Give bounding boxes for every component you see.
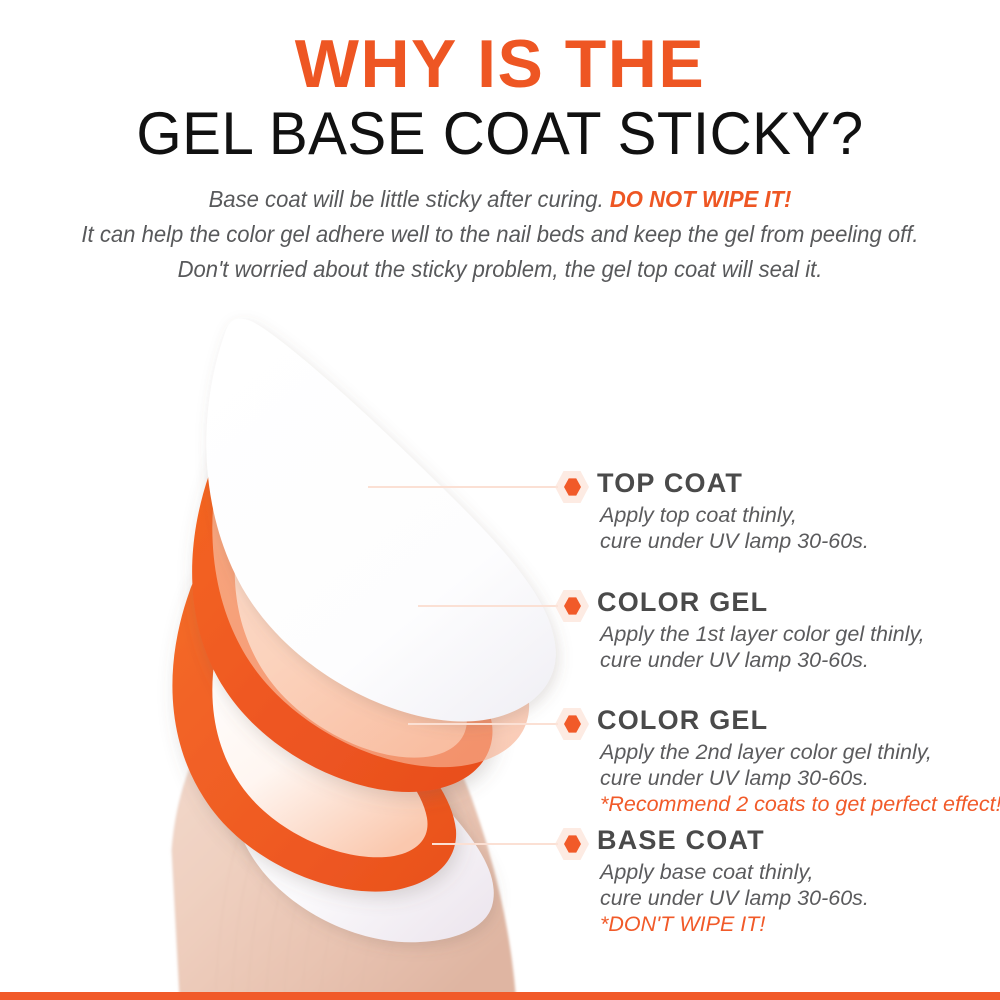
leader-line-base-coat	[432, 843, 558, 845]
callout-body-line-1: Apply base coat thinly,	[600, 859, 869, 885]
callout-note: *DON'T WIPE IT!	[600, 911, 869, 937]
callout-heading: COLOR GEL	[597, 705, 768, 736]
subtitle-line-1-text: Base coat will be little sticky after cu…	[209, 186, 610, 212]
callout-note: *Recommend 2 coats to get perfect effect…	[600, 791, 1000, 817]
hexagon-bullet-icon	[555, 827, 589, 861]
hexagon-bullet-icon	[555, 470, 589, 504]
callout-heading: COLOR GEL	[597, 587, 768, 618]
callout-body: Apply the 2nd layer color gel thinly, cu…	[600, 739, 1000, 817]
subtitle-line-2: It can help the color gel adhere well to…	[20, 217, 980, 252]
callout-body-line-1: Apply the 1st layer color gel thinly,	[600, 621, 925, 647]
callout-body: Apply the 1st layer color gel thinly, cu…	[600, 621, 925, 673]
callout-body-line-1: Apply the 2nd layer color gel thinly,	[600, 739, 1000, 765]
subtitle-line-1: Base coat will be little sticky after cu…	[20, 182, 980, 217]
subtitle-line-3: Don't worried about the sticky problem, …	[20, 252, 980, 287]
callout-body-line-2: cure under UV lamp 30-60s.	[600, 528, 869, 554]
title-line-1: WHY IS THE	[0, 28, 1000, 100]
callout-body-line-1: Apply top coat thinly,	[600, 502, 869, 528]
hexagon-bullet-icon	[555, 707, 589, 741]
hexagon-bullet-icon	[555, 589, 589, 623]
subtitle-warning: DO NOT WIPE IT!	[610, 186, 792, 212]
bottom-accent-bar	[0, 992, 1000, 1000]
page-title: WHY IS THE GEL BASE COAT STICKY?	[0, 28, 1000, 166]
callout-heading: TOP COAT	[597, 468, 743, 499]
title-line-2: GEL BASE COAT STICKY?	[15, 102, 985, 166]
callout-body: Apply base coat thinly, cure under UV la…	[600, 859, 869, 937]
callout-heading: BASE COAT	[597, 825, 765, 856]
callout-body: Apply top coat thinly, cure under UV lam…	[600, 502, 869, 554]
infographic-page: WHY IS THE GEL BASE COAT STICKY? Base co…	[0, 0, 1000, 1000]
callout-body-line-2: cure under UV lamp 30-60s.	[600, 647, 925, 673]
subtitle-paragraph: Base coat will be little sticky after cu…	[20, 182, 980, 287]
callout-body-line-2: cure under UV lamp 30-60s.	[600, 885, 869, 911]
leader-line-color-gel-1	[418, 605, 558, 607]
layered-gel-nail-diagram	[120, 290, 600, 1000]
leader-line-color-gel-2	[408, 723, 558, 725]
leader-line-top-coat	[368, 486, 558, 488]
callout-body-line-2: cure under UV lamp 30-60s.	[600, 765, 1000, 791]
